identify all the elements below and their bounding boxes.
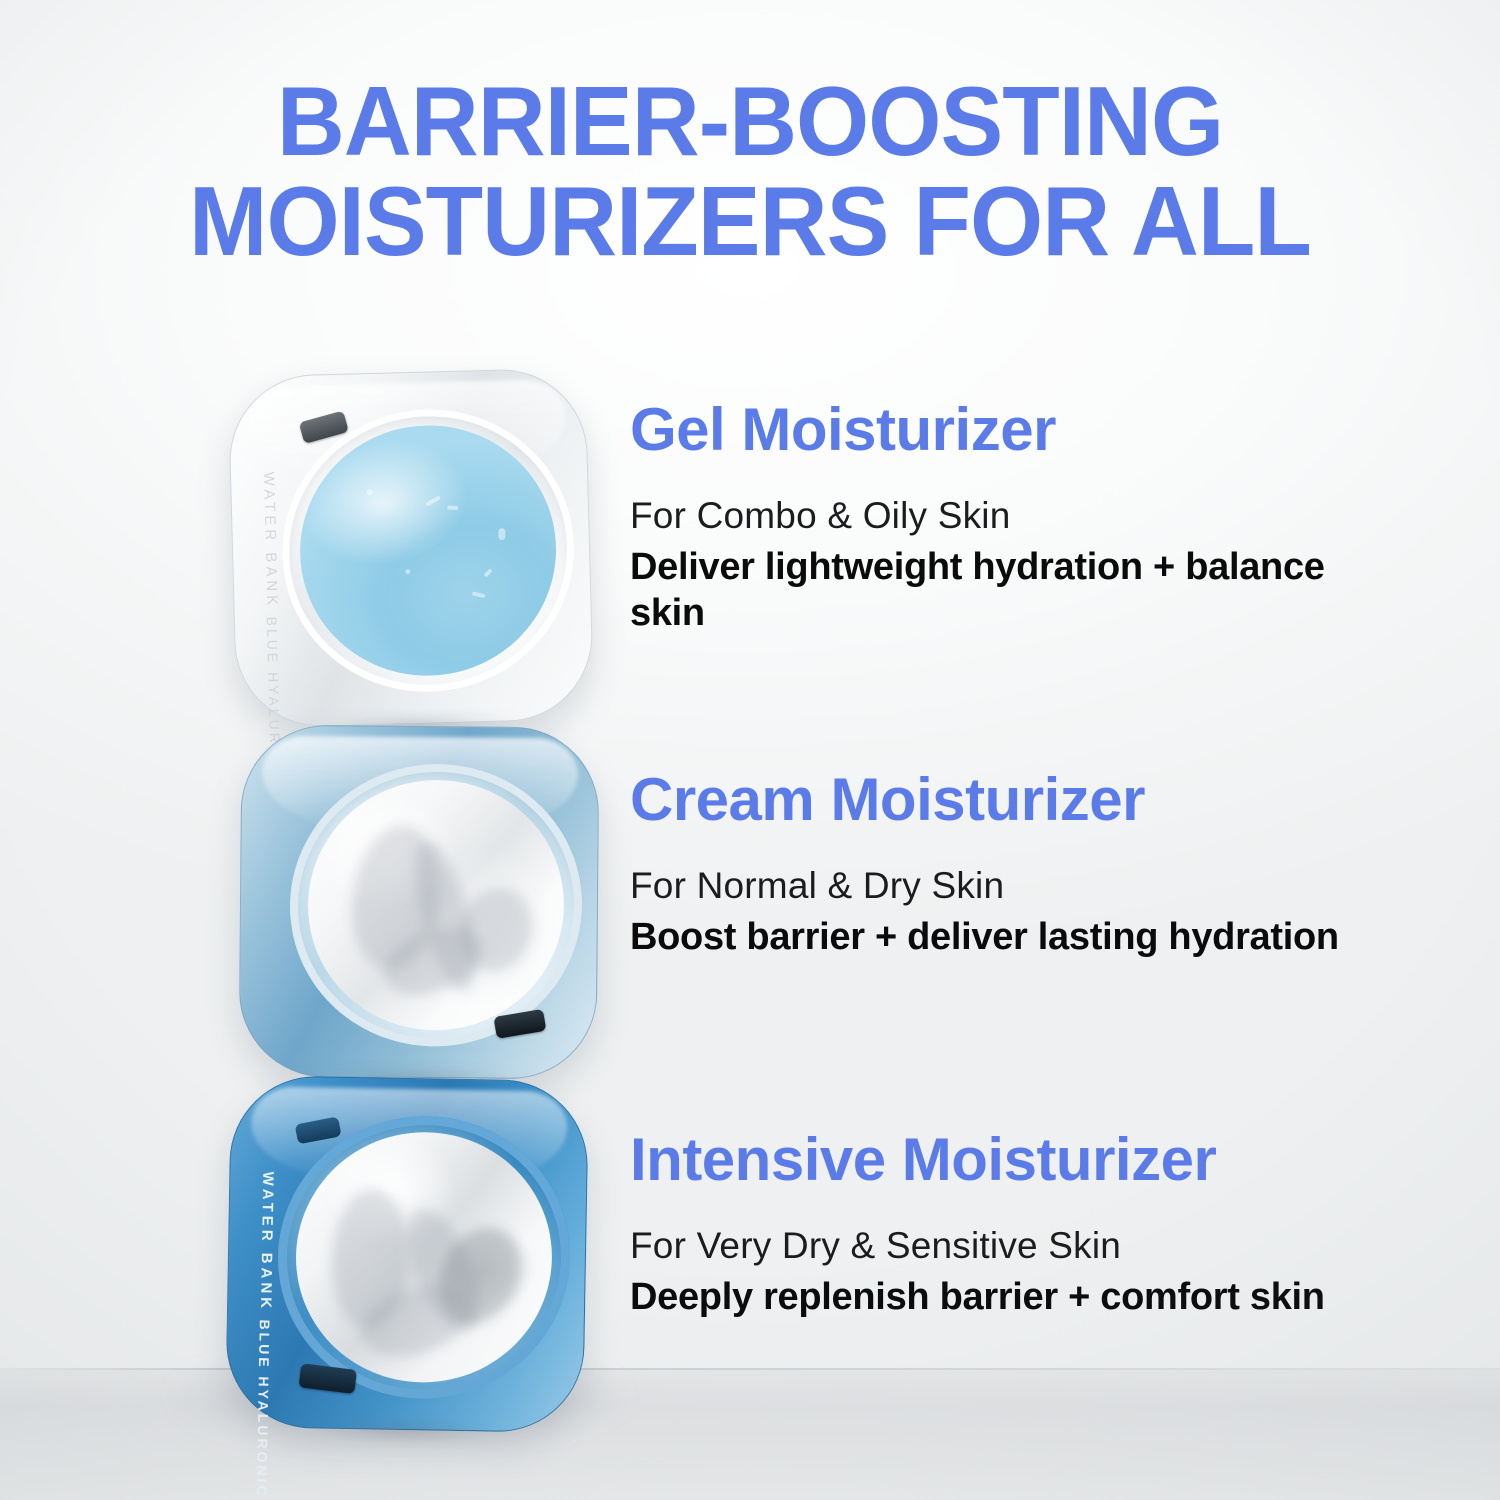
product-description-cream: Boost barrier + deliver lasting hydratio…: [630, 914, 1390, 960]
cream-jar: [238, 724, 599, 1079]
gel-jar-brand: WATER BANK: [260, 471, 281, 609]
product-title-gel: Gel Moisturizer: [630, 400, 1390, 460]
page-headline: BARRIER-BOOSTING MOISTURIZERS FOR ALL: [30, 72, 1470, 272]
intensive-jar-contact-shadow: [265, 1416, 543, 1447]
intensive-jar: WATER BANK BLUE HYALURONIC Intensive Moi…: [225, 1075, 589, 1433]
product-title-intensive: Intensive Moisturizer: [630, 1130, 1390, 1190]
product-subtitle-gel: For Combo & Oily Skin: [630, 494, 1390, 538]
product-poster: BARRIER-BOOSTING MOISTURIZERS FOR ALL WA…: [0, 0, 1500, 1500]
product-subtitle-cream: For Normal & Dry Skin: [630, 864, 1390, 908]
product-title-cream: Cream Moisturizer: [630, 770, 1390, 830]
cream-product-content: [293, 765, 579, 1046]
intensive-product-content: [282, 1118, 567, 1397]
gel-jar: WATER BANK BLUE HYALURONIC: [227, 367, 594, 728]
intensive-jar-brand: WATER BANK: [257, 1171, 276, 1312]
product-description-intensive: Deeply replenish barrier + comfort skin: [630, 1274, 1390, 1320]
cream-swirl-texture: [293, 765, 579, 1046]
product-block-intensive: Intensive Moisturizer For Very Dry & Sen…: [630, 1130, 1390, 1320]
product-subtitle-intensive: For Very Dry & Sensitive Skin: [630, 1224, 1390, 1268]
product-block-gel: Gel Moisturizer For Combo & Oily Skin De…: [630, 400, 1390, 636]
intensive-swirl-texture: [282, 1118, 567, 1397]
product-block-cream: Cream Moisturizer For Normal & Dry Skin …: [630, 770, 1390, 960]
intensive-jar-line: BLUE HYALURONIC: [254, 1319, 273, 1498]
product-description-gel: Deliver lightweight hydration + balance …: [630, 544, 1390, 637]
